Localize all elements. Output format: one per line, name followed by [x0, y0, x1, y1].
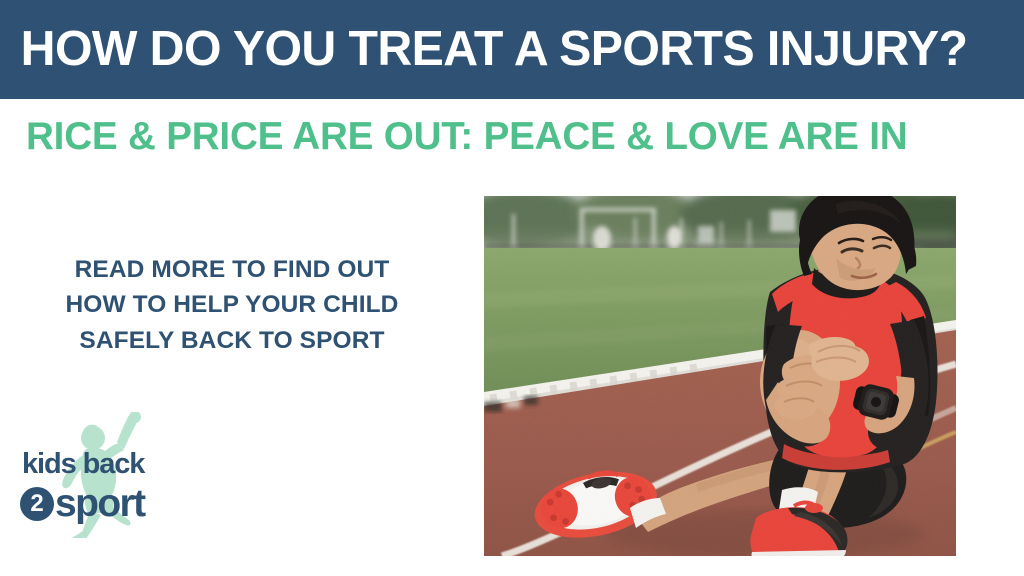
- logo-line-kids-back: kids back: [20, 450, 192, 479]
- promo-banner: HOW DO YOU TREAT A SPORTS INJURY? RICE &…: [0, 0, 1024, 576]
- logo-line-sport: sport: [55, 484, 145, 523]
- header-band: HOW DO YOU TREAT A SPORTS INJURY?: [0, 0, 1024, 99]
- body-copy-line-2: HOW TO HELP YOUR CHILD: [32, 287, 432, 322]
- body-copy-line-3: SAFELY BACK TO SPORT: [32, 323, 432, 358]
- logo[interactable]: kids back 2 sport: [12, 412, 192, 538]
- logo-wordmark: kids back 2 sport: [20, 450, 192, 523]
- body-copy: READ MORE TO FIND OUT HOW TO HELP YOUR C…: [32, 252, 432, 358]
- subtitle: RICE & PRICE ARE OUT: PEACE & LOVE ARE I…: [26, 116, 907, 159]
- page-title: HOW DO YOU TREAT A SPORTS INJURY?: [0, 25, 967, 74]
- logo-numeral-2: 2: [20, 487, 54, 521]
- injured-athlete-photo: [484, 196, 956, 556]
- body-copy-line-1: READ MORE TO FIND OUT: [32, 252, 432, 287]
